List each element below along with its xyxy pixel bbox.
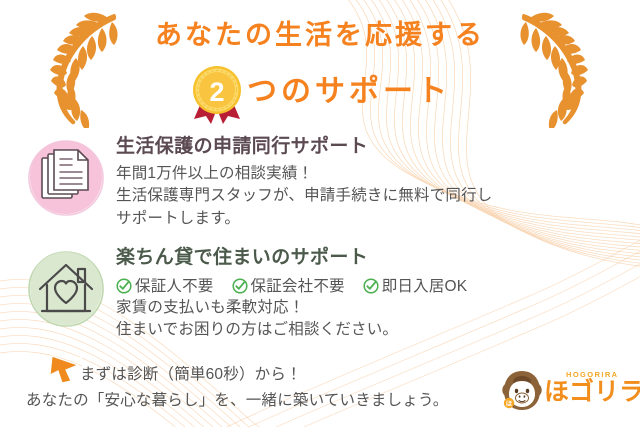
support-banner: あなたの生活を応援する 2 つのサポート: [0, 0, 640, 427]
feature-check-label: 保証人不要: [135, 274, 214, 296]
medal-number: 2: [209, 77, 224, 107]
feature-check-label: 保証会社不要: [251, 274, 345, 296]
check-circle-icon: [116, 278, 132, 294]
support-item-title: 楽ちん貸で住まいのサポート: [116, 247, 622, 269]
support-item-line: 生活保護専門スタッフが、申請手続きに無料で同行し: [116, 185, 622, 207]
support-item-body: 楽ちん貸で住まいのサポート 保証人不要 保証会社不要: [114, 243, 622, 342]
house-heart-icon: [22, 243, 114, 335]
support-item-seikatsuhogo: 生活保護の申請同行サポート 年間1万件以上の相談実績！ 生活保護専門スタッフが、…: [22, 132, 622, 230]
support-item-line: 家賃の支払いも柔軟対応！: [116, 297, 622, 319]
banner-headline-secondary-row: 2 つのサポート: [0, 68, 640, 120]
medal-badge: 2: [189, 64, 245, 124]
support-item-line: 住まいでお困りの方はご相談ください。: [116, 319, 622, 341]
mascot-badge-char: ほ: [506, 400, 513, 408]
documents-icon: [22, 132, 114, 224]
logo-kana-text: ほゴリラ: [544, 380, 640, 405]
support-item-title: 生活保護の申請同行サポート: [116, 136, 622, 158]
logo-wordmark: HOGORIRA ほゴリラ: [544, 369, 634, 413]
brand-logo[interactable]: ほ HOGORIRA ほゴリラ: [500, 366, 636, 416]
feature-check-item: 保証人不要: [116, 274, 214, 296]
footer-closing-line: あなたの「安心な暮らし」を、一緒に築いていきましょう。: [26, 388, 449, 410]
support-feature-check-list: 保証人不要 保証会社不要 即日入居OK: [116, 274, 622, 296]
check-circle-icon: [363, 278, 379, 294]
gorilla-mascot-icon: ほ: [500, 369, 544, 413]
support-item-line: 年間1万件以上の相談実績！: [116, 163, 622, 185]
support-item-body: 生活保護の申請同行サポート 年間1万件以上の相談実績！ 生活保護専門スタッフが、…: [114, 132, 622, 230]
feature-check-item: 保証会社不要: [232, 274, 345, 296]
support-item-line: サポートします。: [116, 208, 622, 230]
feature-check-label: 即日入居OK: [382, 274, 468, 296]
footer-cta-line: まずは診断（簡単60秒）から！: [80, 362, 302, 384]
feature-check-item: 即日入居OK: [363, 274, 468, 296]
support-item-rakuchingashi: 楽ちん貸で住まいのサポート 保証人不要 保証会社不要: [22, 243, 622, 342]
banner-header: あなたの生活を応援する 2 つのサポート: [0, 0, 640, 128]
banner-headline-primary: あなたの生活を応援する: [0, 22, 640, 49]
check-circle-icon: [232, 278, 248, 294]
banner-headline-secondary-text: つのサポート: [247, 77, 451, 107]
